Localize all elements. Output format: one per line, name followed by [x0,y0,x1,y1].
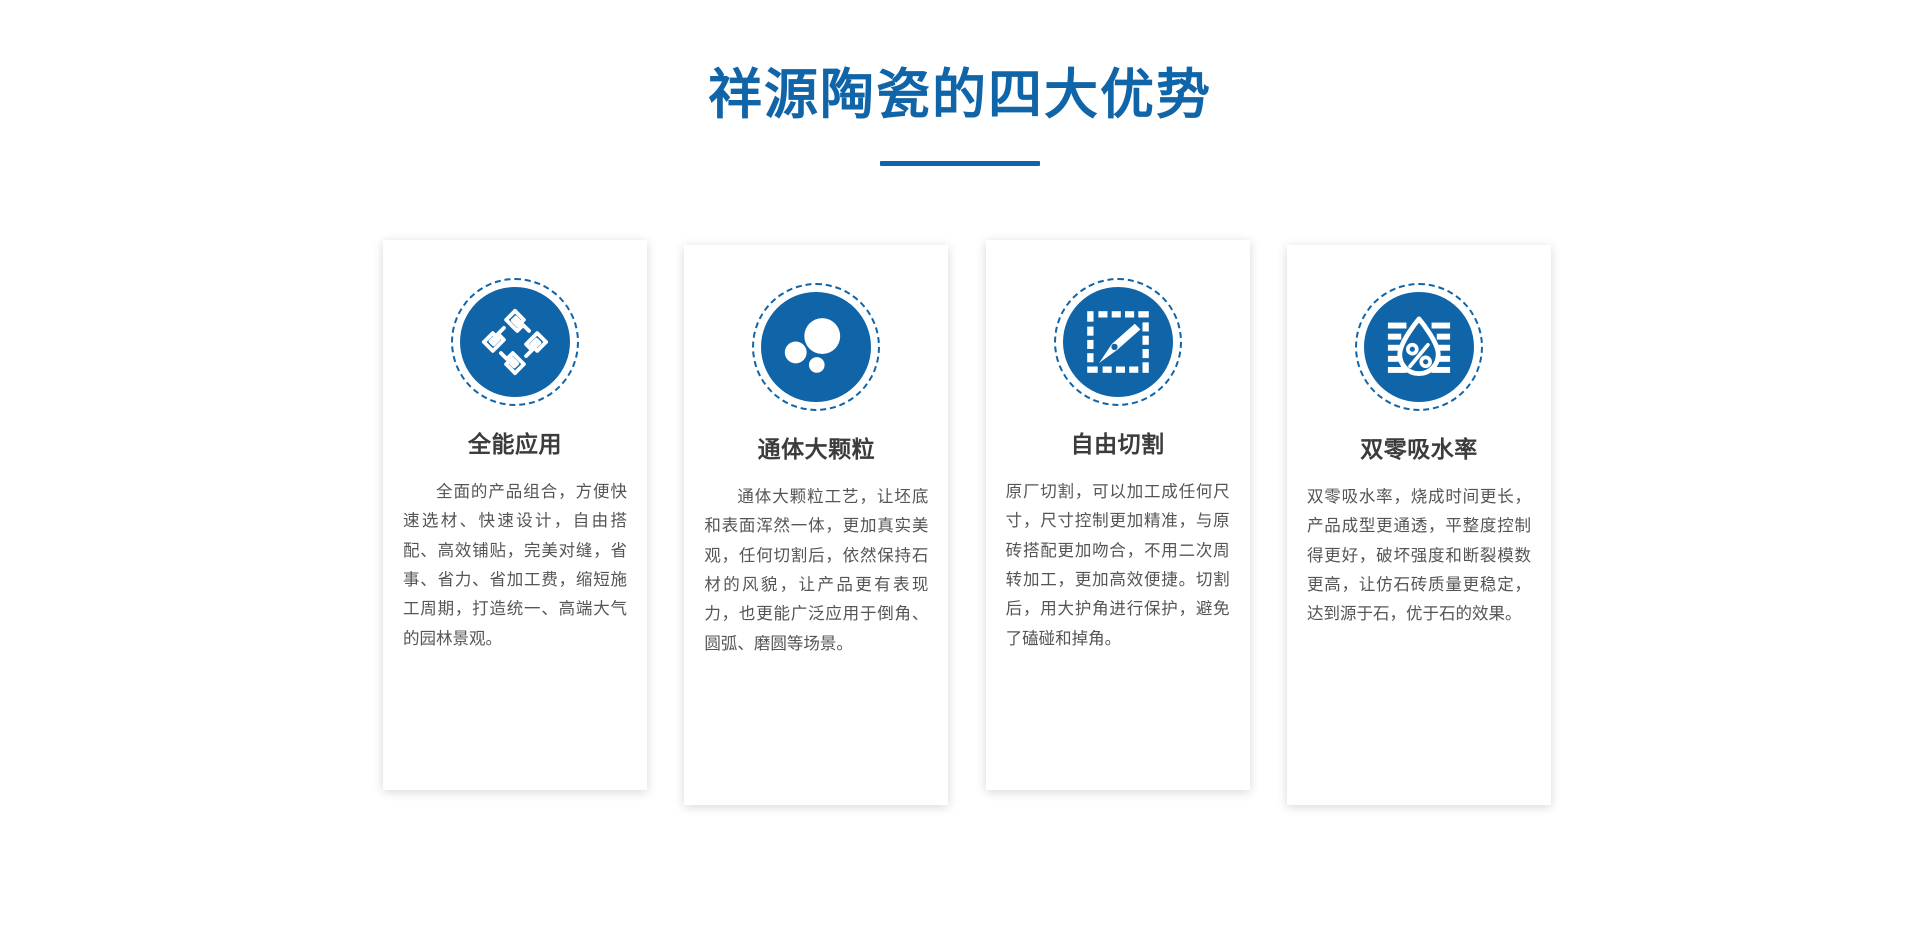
advantage-card-title: 双零吸水率 [1360,435,1478,465]
icon-badge [451,278,579,406]
advantage-card-title: 通体大颗粒 [758,435,876,465]
icon-badge [1054,278,1182,406]
icon-badge [752,283,880,411]
title-divider [880,161,1040,166]
cut-pen-tool-icon [1063,287,1173,397]
advantage-card-body: 全面的产品组合，方便快速选材、快速设计，自由搭配、高效铺贴，完美对缝，省事、省力… [403,478,627,654]
advantage-card[interactable]: 全能应用 全面的产品组合，方便快速选材、快速设计，自由搭配、高效铺贴，完美对缝，… [383,240,647,790]
water-absorption-droplet-icon [1364,292,1474,402]
advantage-card[interactable]: 通体大颗粒 通体大颗粒工艺，让坯底和表面浑然一体，更加真实美观，任何切割后，依然… [684,245,948,805]
advantage-card[interactable]: 自由切割 原厂切割，可以加工成任何尺寸，尺寸控制更加精准，与原砖搭配更加吻合，不… [986,240,1250,790]
interlocking-knot-icon [460,287,570,397]
advantages-section: 祥源陶瓷的四大优势 [0,0,1920,946]
advantage-card-title: 自由切割 [1071,430,1165,460]
particles-icon [761,292,871,402]
advantage-cards-row: 全能应用 全面的产品组合，方便快速选材、快速设计，自由搭配、高效铺贴，完美对缝，… [383,240,1551,805]
advantage-card-body: 原厂切割，可以加工成任何尺寸，尺寸控制更加精准，与原砖搭配更加吻合，不用二次周转… [1006,478,1230,654]
icon-badge [1355,283,1483,411]
advantage-card-body: 通体大颗粒工艺，让坯底和表面浑然一体，更加真实美观，任何切割后，依然保持石材的风… [704,483,928,659]
advantage-card[interactable]: 双零吸水率 双零吸水率，烧成时间更长，产品成型更通透，平整度控制得更好，破坏强度… [1287,245,1551,805]
advantage-card-title: 全能应用 [468,430,562,460]
section-header: 祥源陶瓷的四大优势 [0,64,1920,166]
advantage-card-body: 双零吸水率，烧成时间更长，产品成型更通透，平整度控制得更好，破坏强度和断裂模数更… [1307,483,1531,630]
page-title: 祥源陶瓷的四大优势 [0,64,1920,126]
